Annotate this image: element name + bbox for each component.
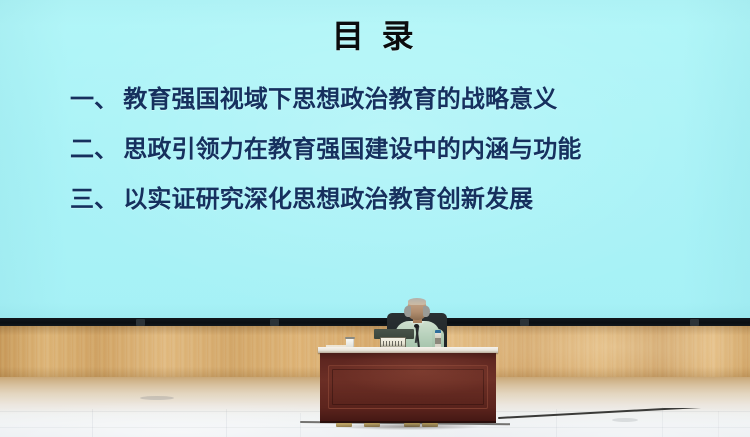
podium-front-panel (328, 365, 488, 409)
slide-outline-list: 一、教育强国视域下思想政治教育的战略意义 二、思政引领力在教育强国建设中的内涵与… (70, 88, 710, 238)
outline-text-3: 以实证研究深化思想政治教育创新发展 (123, 186, 533, 213)
speaker-hair-top (408, 298, 426, 305)
lecture-hall-scene: 目 录 一、教育强国视域下思想政治教育的战略意义 二、思政引领力在教育强国建设中… (0, 0, 750, 437)
outline-text-2: 思政引领力在教育强国建设中的内涵与功能 (123, 136, 581, 163)
projection-screen: 目 录 一、教育强国视域下思想政治教育的战略意义 二、思政引领力在教育强国建设中… (0, 0, 750, 322)
paper-cup-lid (345, 337, 355, 339)
outline-text-1: 教育强国视域下思想政治教育的战略意义 (123, 86, 557, 113)
outline-number-3: 三、 (70, 186, 118, 213)
floor-tile-line-v2 (226, 409, 227, 437)
microphone (415, 326, 420, 348)
speaker-hair-right (423, 306, 430, 317)
water-bottle-label (435, 338, 441, 344)
screen-bracket-mid-left (270, 319, 279, 326)
podium-ground-shadow (310, 423, 506, 430)
podium-body (320, 353, 496, 423)
speaker-hair-left (404, 306, 411, 317)
floor-cable-right (498, 408, 750, 422)
microphone-head (414, 324, 419, 328)
water-bottle-cap (435, 330, 441, 333)
slide-outline-item-3: 三、以实证研究深化思想政治教育创新发展 (70, 188, 710, 212)
slide-outline-item-2: 二、思政引领力在教育强国建设中的内涵与功能 (70, 138, 710, 162)
outline-number-2: 二、 (70, 136, 118, 163)
floor-tile-line-v1 (92, 409, 93, 437)
speaker-podium (318, 347, 498, 426)
outline-number-1: 一、 (70, 86, 118, 113)
slide-title: 目 录 (0, 20, 750, 54)
name-plate-text (383, 341, 403, 346)
screen-bracket-mid-right (520, 319, 529, 326)
floor-scuff-left (140, 396, 174, 400)
podium-panel-inner-border (332, 369, 484, 405)
screen-bracket-right (690, 319, 699, 326)
screen-bracket-left (136, 319, 145, 326)
slide-outline-item-1: 一、教育强国视域下思想政治教育的战略意义 (70, 88, 710, 112)
